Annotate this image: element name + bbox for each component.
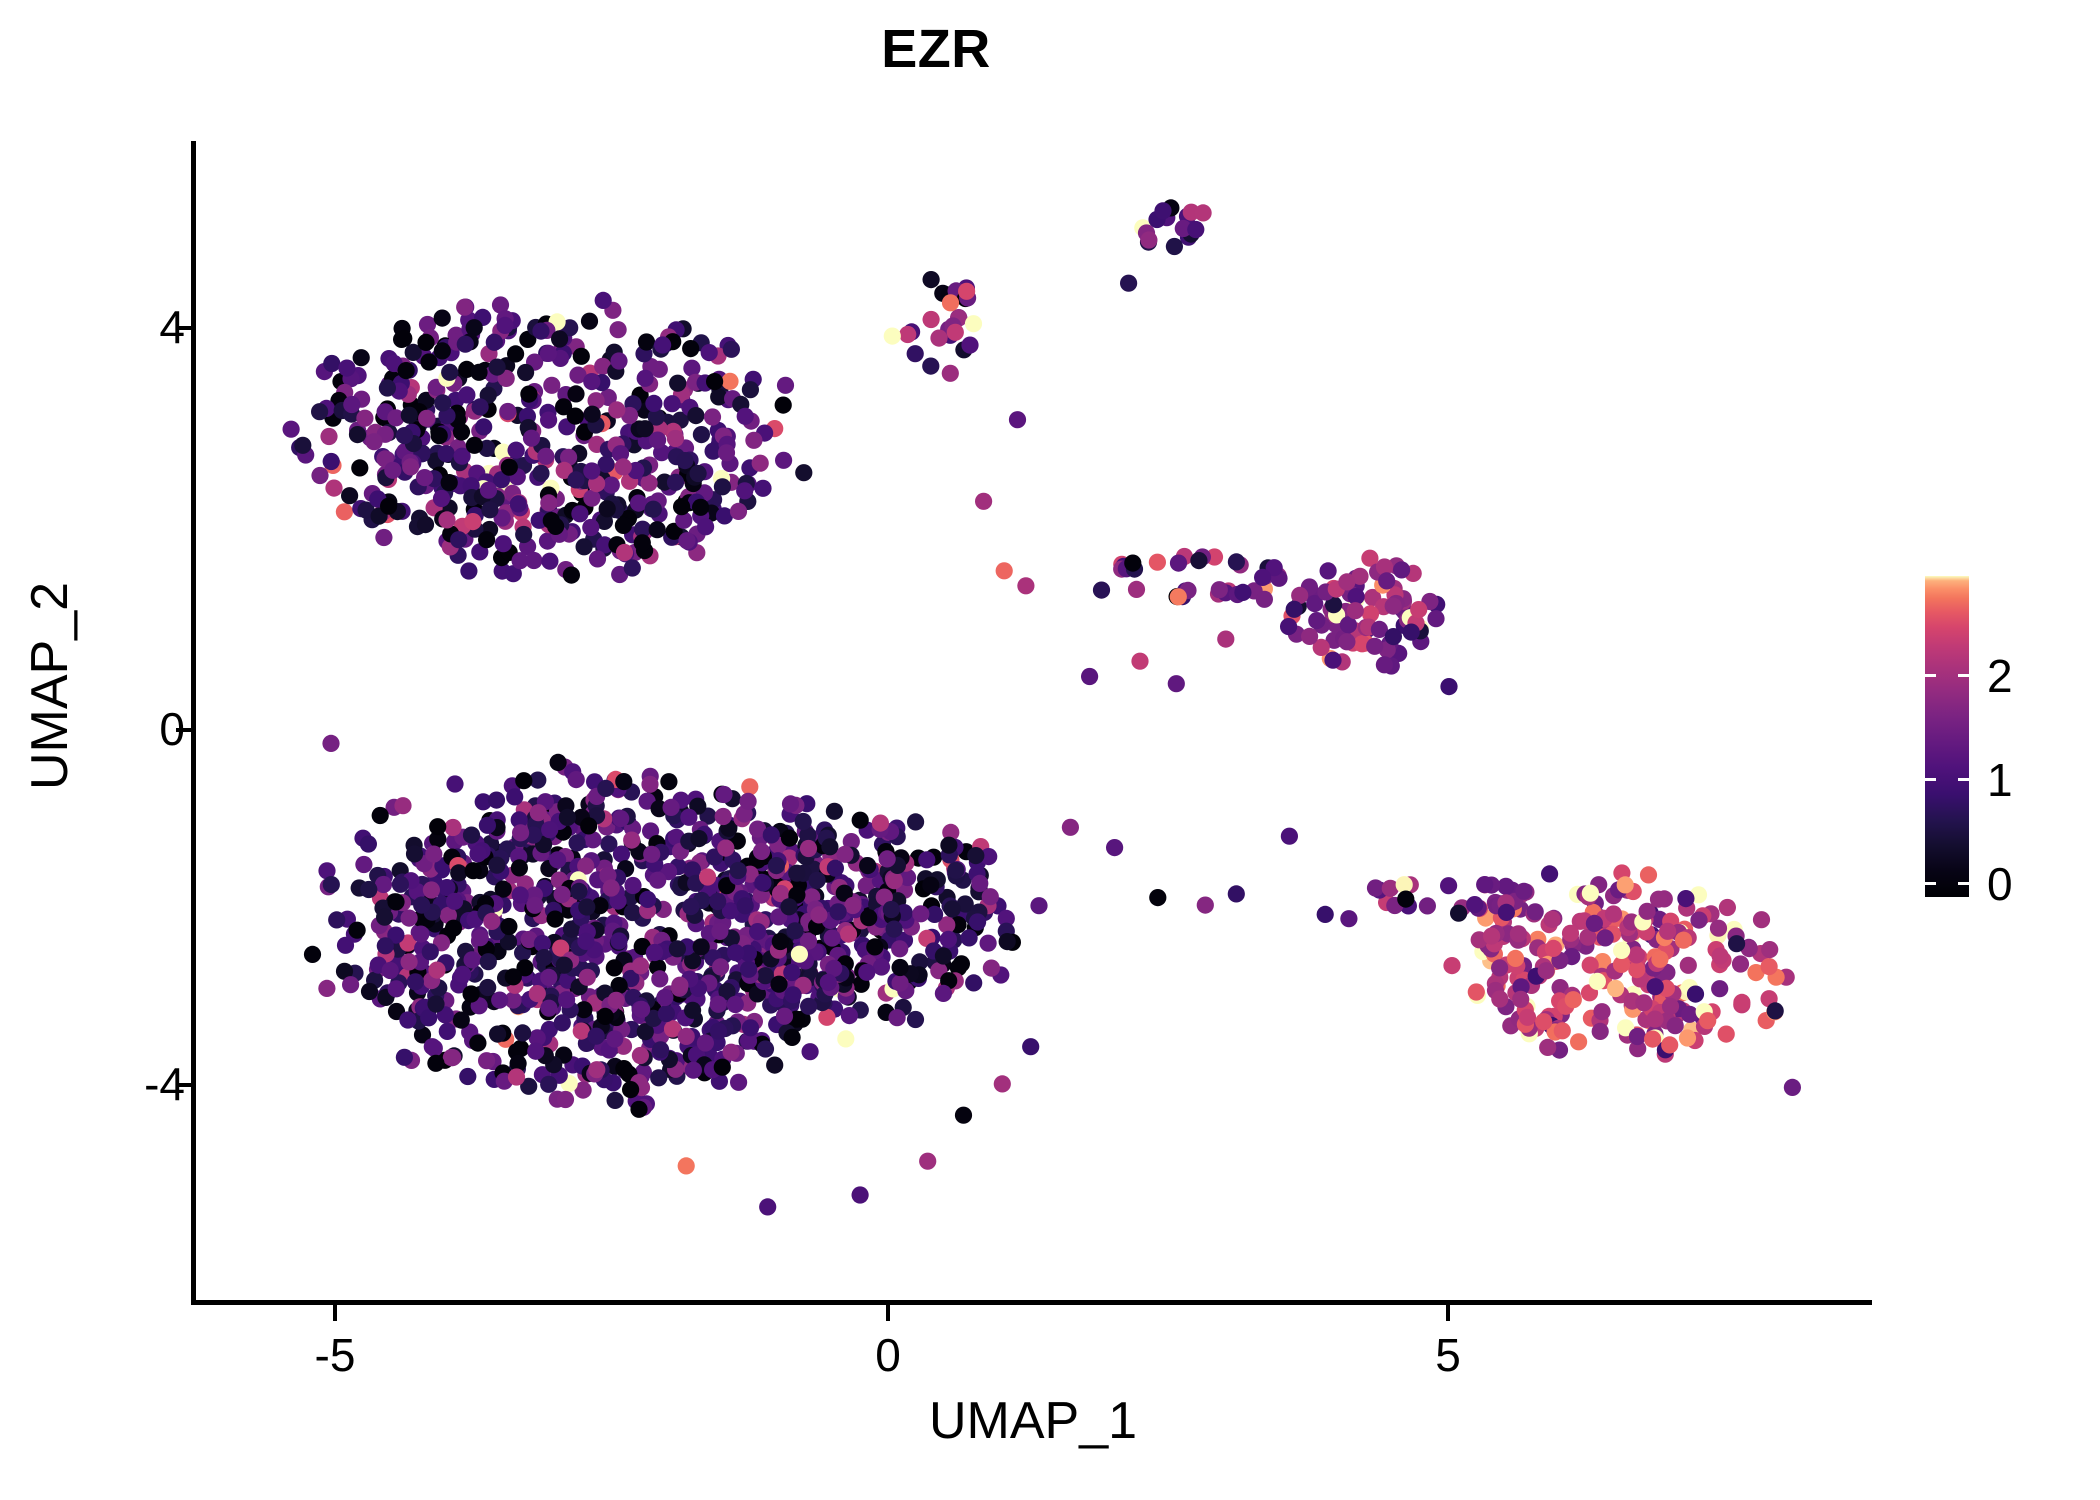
x-tick-mark-minus5 <box>333 1305 337 1321</box>
x-axis-line <box>194 1300 1872 1305</box>
page-title: EZR <box>0 22 1872 76</box>
x-tick-mark-0 <box>886 1305 890 1321</box>
colorbar-legend: 2 1 0 <box>1925 576 2095 906</box>
x-tick-mark-5 <box>1446 1305 1450 1321</box>
colorbar-gradient <box>1925 576 1969 897</box>
x-axis-title: UMAP_1 <box>194 1395 1872 1447</box>
colorbar-label-0: 0 <box>1987 861 2013 907</box>
x-tick-label-minus5: -5 <box>255 1332 415 1378</box>
plot-panel <box>194 141 1872 1302</box>
x-tick-label-5: 5 <box>1368 1332 1528 1378</box>
colorbar-tick-0-left <box>1925 882 1936 885</box>
colorbar-label-2: 2 <box>1987 653 2013 699</box>
x-tick-label-0: 0 <box>808 1332 968 1378</box>
y-axis-line <box>191 141 196 1305</box>
colorbar-tick-0-right <box>1958 882 1969 885</box>
colorbar-tick-2-left <box>1925 674 1936 677</box>
umap-feature-plot: EZR 4 0 -4 -5 0 5 UMAP_1 UMAP_2 2 1 0 <box>0 0 2100 1500</box>
colorbar-tick-1-left <box>1925 778 1936 781</box>
y-tick-label-4: 4 <box>159 304 185 350</box>
y-tick-label-0: 0 <box>159 706 185 752</box>
y-axis-title: UMAP_2 <box>24 486 76 886</box>
y-tick-label-minus4: -4 <box>144 1061 185 1107</box>
colorbar-tick-2-right <box>1958 674 1969 677</box>
colorbar-label-1: 1 <box>1987 757 2013 803</box>
colorbar-tick-1-right <box>1958 778 1969 781</box>
scatter-points-layer <box>194 141 1872 1302</box>
